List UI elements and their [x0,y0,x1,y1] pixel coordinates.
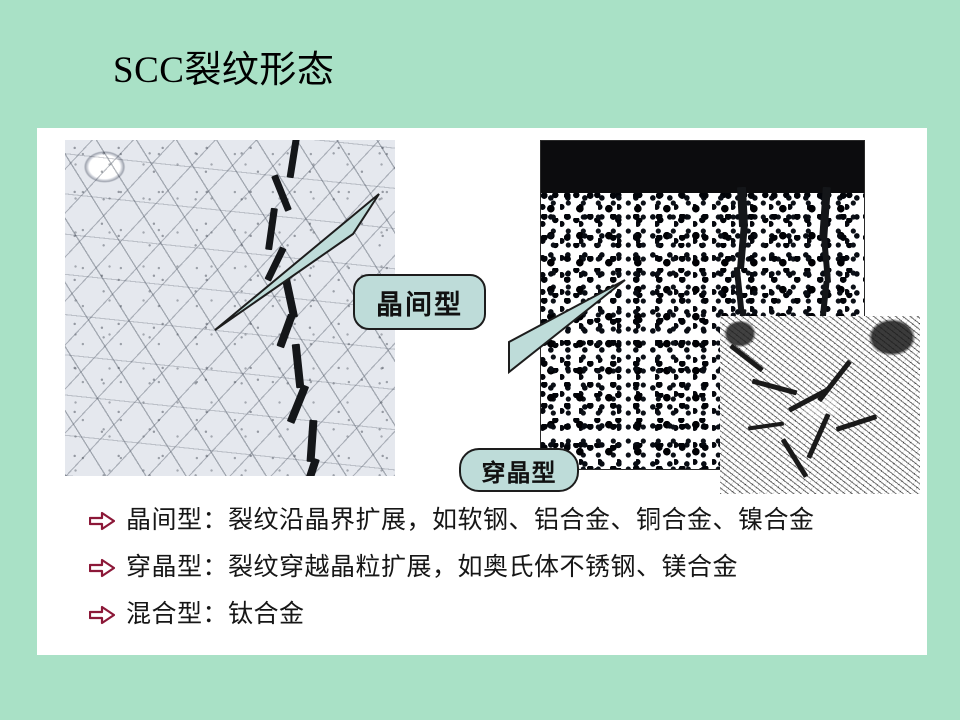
arrow-right-outline-icon [88,503,116,539]
bullet-list: 晶间型：裂纹沿晶界扩展，如软钢、铝合金、铜合金、镍合金 穿晶型：裂纹穿越晶粒扩展… [88,503,918,644]
list-item-text: 晶间型：裂纹沿晶界扩展，如软钢、铝合金、铜合金、镍合金 [126,503,815,539]
inset-micrograph [720,316,920,494]
list-item: 晶间型：裂纹沿晶界扩展，如软钢、铝合金、铜合金、镍合金 [88,503,918,539]
intergranular-micrograph [65,140,395,476]
callout-transgranular[interactable]: 穿晶型 [459,448,579,492]
slide: SCC裂纹形态 [0,0,960,720]
list-item-text: 混合型：钛合金 [126,597,305,633]
list-item: 穿晶型：裂纹穿越晶粒扩展，如奥氏体不锈钢、镁合金 [88,550,918,586]
page-title: SCC裂纹形态 [113,48,334,94]
list-item-text: 穿晶型：裂纹穿越晶粒扩展，如奥氏体不锈钢、镁合金 [126,550,738,586]
content-card: 晶间型 穿晶型 晶间型：裂纹沿晶界扩展，如软钢、铝合金、铜合金、镍合金 穿晶型 [37,128,927,655]
intergranular-crack [256,140,348,476]
callout-intergranular[interactable]: 晶间型 [353,274,486,330]
list-item: 混合型：钛合金 [88,597,918,633]
arrow-right-outline-icon [88,550,116,586]
arrow-right-outline-icon [88,597,116,633]
dark-patches [720,316,920,494]
